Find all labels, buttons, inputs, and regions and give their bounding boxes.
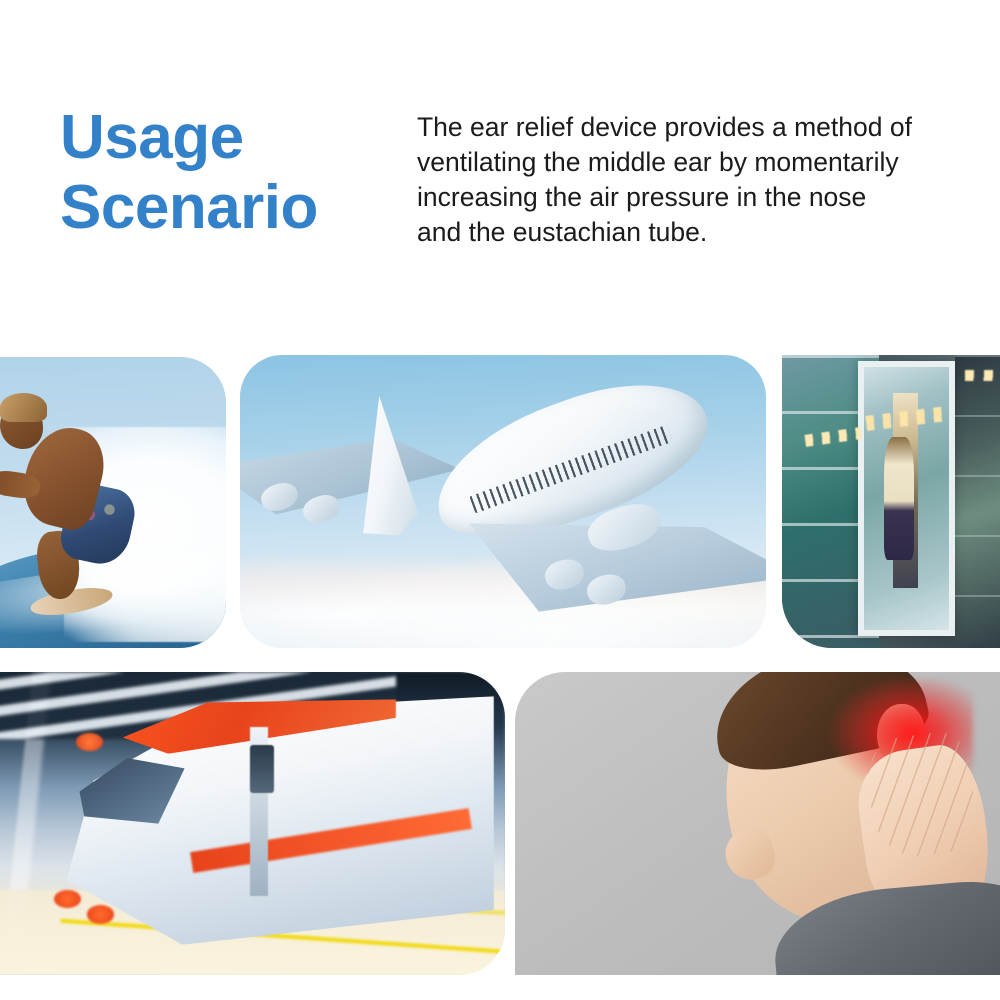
photo-high-speed-train (0, 672, 505, 975)
photo-ear-pain (515, 672, 1000, 975)
surfer-hair (0, 393, 47, 423)
elevator-right-lights (965, 370, 1000, 382)
photo-surfing (0, 357, 226, 648)
train-headlamp-2 (87, 905, 114, 923)
usage-scenario-page: Usage Scenario The ear relief device pro… (0, 0, 1000, 1000)
surfer-figure (0, 395, 174, 622)
elevator-passenger (884, 437, 914, 560)
photo-airplane (240, 355, 766, 648)
platform-signal-box (250, 745, 274, 793)
train-roof-lamp (76, 733, 103, 751)
elevator-right-glass (955, 355, 1000, 648)
airplane-figure (240, 355, 766, 648)
ear-pain-figure (692, 672, 1000, 975)
photo-grid (0, 0, 1000, 1000)
photo-glass-elevator (782, 355, 1000, 648)
